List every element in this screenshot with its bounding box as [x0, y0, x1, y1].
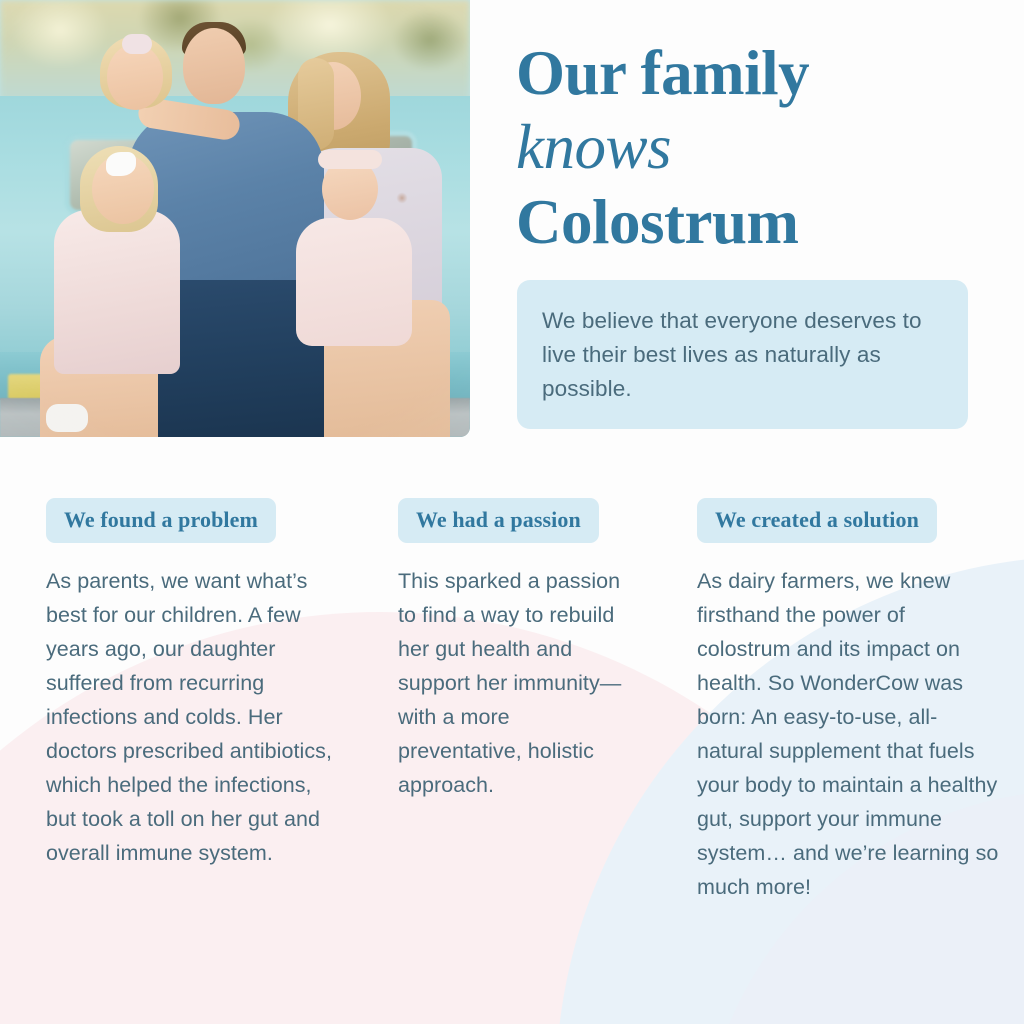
story-columns: We found a problem As parents, we want w… [0, 498, 1024, 905]
column-heading-passion: We had a passion [398, 498, 599, 543]
column-heading-solution: We created a solution [697, 498, 937, 543]
mission-statement-text: We believe that everyone deserves to liv… [542, 304, 943, 407]
column-body-solution: As dairy farmers, we knew firsthand the … [697, 565, 1002, 905]
page-title: Our family knows Colostrum [516, 36, 986, 259]
mission-statement-box: We believe that everyone deserves to liv… [517, 280, 968, 429]
story-column-solution: We created a solution As dairy farmers, … [652, 498, 1024, 905]
headline-line-3: Colostrum [516, 185, 986, 259]
column-body-problem: As parents, we want what’s best for our … [46, 565, 336, 871]
headline-line-2: knows [516, 110, 986, 184]
headline-line-1: Our family [516, 36, 986, 110]
column-body-passion: This sparked a passion to find a way to … [398, 565, 636, 803]
column-heading-problem: We found a problem [46, 498, 276, 543]
story-column-problem: We found a problem As parents, we want w… [0, 498, 352, 905]
family-photo [0, 0, 470, 437]
story-column-passion: We had a passion This sparked a passion … [352, 498, 652, 905]
photo-vignette [0, 0, 470, 437]
